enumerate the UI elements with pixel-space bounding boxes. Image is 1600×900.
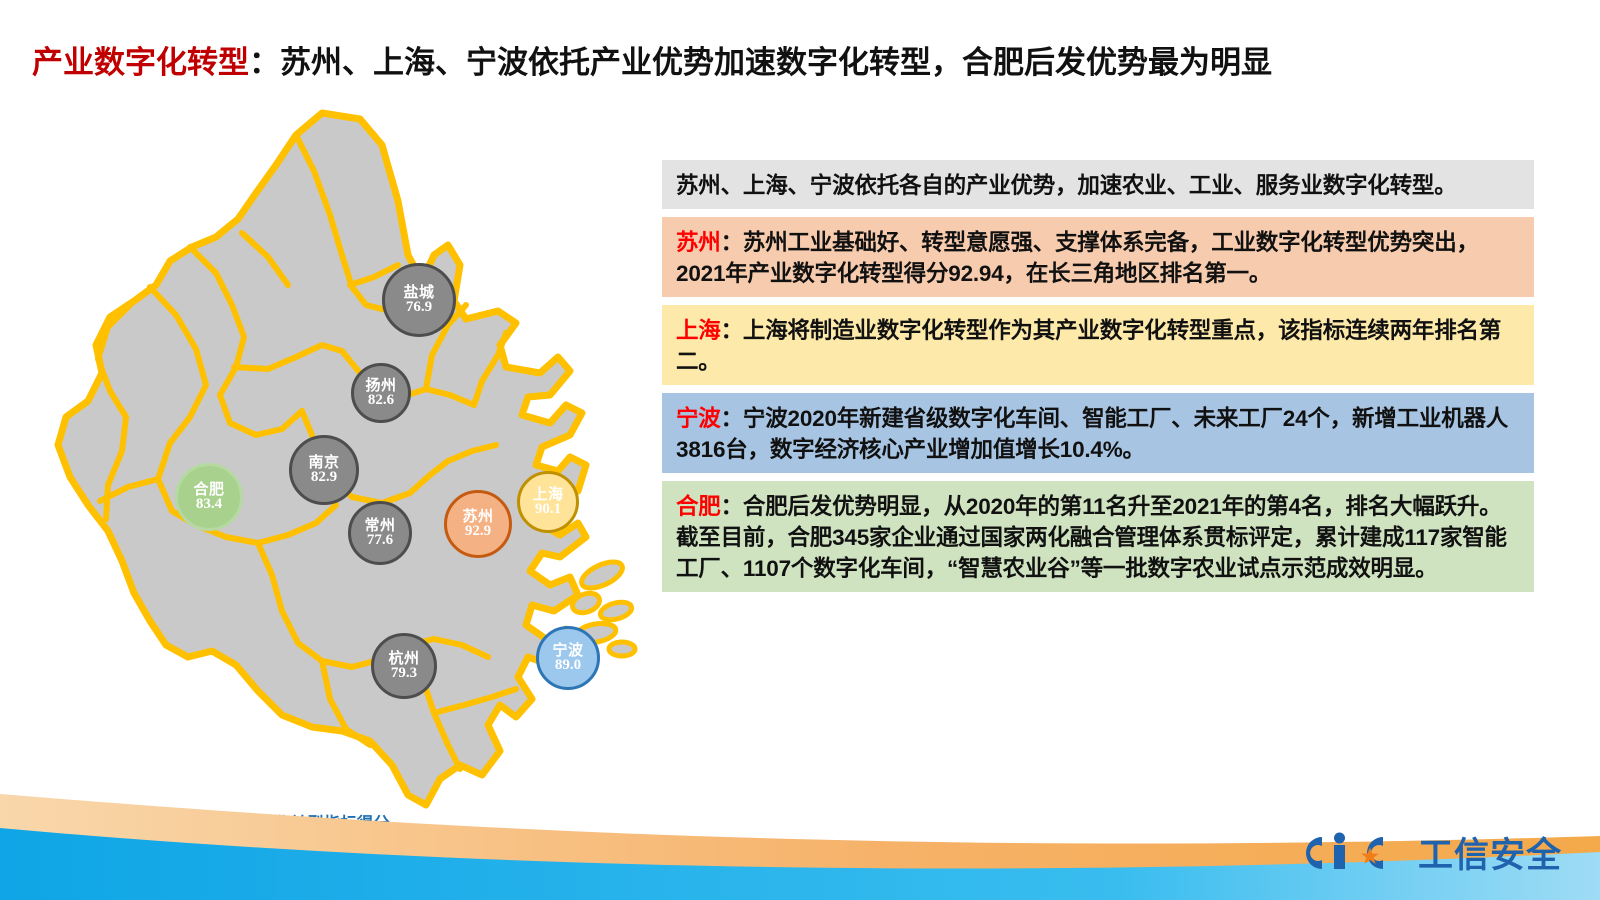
city-marker-苏州[interactable]: 苏州92.9 xyxy=(444,490,512,558)
city-marker-value: 92.9 xyxy=(465,524,491,539)
city-marker-盐城[interactable]: 盐城76.9 xyxy=(382,263,456,337)
page-title: 产业数字化转型：苏州、上海、宁波依托产业优势加速数字化转型，合肥后发优势最为明显 xyxy=(32,46,1272,80)
city-marker-name: 常州 xyxy=(364,518,395,533)
panel-text-hefei: ：合肥后发优势明显，从2020年的第11名升至2021年的第4名，排名大幅跃升。… xyxy=(676,494,1507,581)
panel-label-ningbo: 宁波 xyxy=(676,406,721,431)
panel-label-shanghai: 上海 xyxy=(676,318,721,343)
page-title-rest: ：苏州、上海、宁波依托产业优势加速数字化转型，合肥后发优势最为明显 xyxy=(249,45,1272,80)
city-marker-杭州[interactable]: 杭州79.3 xyxy=(371,633,437,699)
panel-text-shanghai: ：上海将制造业数字化转型作为其产业数字化转型重点，该指标连续两年排名第二。 xyxy=(676,318,1501,374)
cic-logo-mark xyxy=(1290,831,1408,875)
slide-root: 产业数字化转型：苏州、上海、宁波依托产业优势加速数字化转型，合肥后发优势最为明显 xyxy=(0,0,1600,900)
panel-label-suzhou: 苏州 xyxy=(676,230,721,255)
map-container: 盐城76.9扬州82.6南京82.9合肥83.4常州77.6苏州92.9上海90… xyxy=(30,105,650,825)
city-marker-name: 杭州 xyxy=(388,651,419,666)
city-marker-合肥[interactable]: 合肥83.4 xyxy=(175,463,243,531)
panel-text-ningbo: ：宁波2020年新建省级数字化车间、智能工厂、未来工厂24个，新增工业机器人38… xyxy=(676,406,1508,462)
city-marker-value: 89.0 xyxy=(555,658,581,673)
city-marker-上海[interactable]: 上海90.1 xyxy=(517,471,579,533)
city-marker-扬州[interactable]: 扬州82.6 xyxy=(351,363,411,423)
panel-text-suzhou: ：苏州工业基础好、转型意愿强、支撑体系完备，工业数字化转型优势突出，2021年产… xyxy=(676,230,1479,286)
city-marker-value: 79.3 xyxy=(391,666,417,681)
city-marker-南京[interactable]: 南京82.9 xyxy=(289,435,359,505)
brand-name: 工信安全 xyxy=(1418,827,1562,878)
city-marker-value: 90.1 xyxy=(535,502,561,517)
panel-label-hefei: 合肥 xyxy=(676,494,721,519)
city-marker-value: 76.9 xyxy=(406,300,432,315)
panel-suzhou: 苏州：苏州工业基础好、转型意愿强、支撑体系完备，工业数字化转型优势突出，2021… xyxy=(662,217,1534,297)
city-marker-value: 82.9 xyxy=(311,470,337,485)
city-marker-name: 苏州 xyxy=(462,509,493,524)
city-marker-name: 宁波 xyxy=(552,643,583,658)
panel-shanghai: 上海：上海将制造业数字化转型作为其产业数字化转型重点，该指标连续两年排名第二。 xyxy=(662,305,1534,385)
insight-panels: 苏州、上海、宁波依托各自的产业优势，加速农业、工业、服务业数字化转型。苏州：苏州… xyxy=(662,160,1534,600)
brand-logo: 工信安全 xyxy=(1290,827,1562,878)
city-marker-name: 扬州 xyxy=(365,378,396,393)
city-marker-宁波[interactable]: 宁波89.0 xyxy=(536,626,600,690)
city-marker-name: 南京 xyxy=(308,455,339,470)
city-marker-value: 77.6 xyxy=(367,533,393,548)
city-marker-value: 82.6 xyxy=(368,393,394,408)
page-title-highlight: 产业数字化转型 xyxy=(32,45,249,80)
city-marker-常州[interactable]: 常州77.6 xyxy=(348,501,412,565)
panel-ningbo: 宁波：宁波2020年新建省级数字化车间、智能工厂、未来工厂24个，新增工业机器人… xyxy=(662,393,1534,473)
city-marker-name: 合肥 xyxy=(193,482,224,497)
panel-overview: 苏州、上海、宁波依托各自的产业优势，加速农业、工业、服务业数字化转型。 xyxy=(662,160,1534,209)
panel-hefei: 合肥：合肥后发优势明显，从2020年的第11名升至2021年的第4名，排名大幅跃… xyxy=(662,481,1534,592)
city-marker-value: 83.4 xyxy=(196,497,222,512)
panel-text-overview: 苏州、上海、宁波依托各自的产业优势，加速农业、工业、服务业数字化转型。 xyxy=(676,173,1457,198)
city-marker-name: 上海 xyxy=(532,487,563,502)
footer-decoration: 工信安全 xyxy=(0,780,1600,900)
city-marker-name: 盐城 xyxy=(403,285,434,300)
